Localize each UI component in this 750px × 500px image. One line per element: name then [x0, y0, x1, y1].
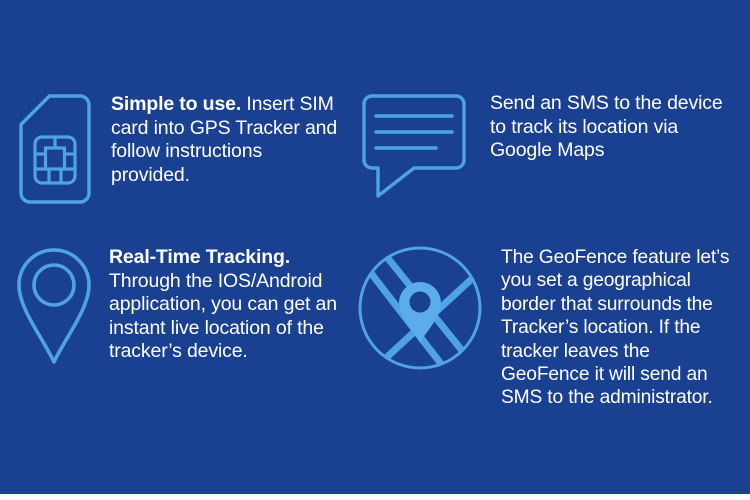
feature-heading: Real-Time Tracking. [109, 246, 290, 268]
map-circle-pin-icon [356, 244, 484, 372]
feature-paragraph: Simple to use. Insert SIM card into GPS … [111, 93, 346, 187]
speech-bubble-icon [360, 92, 468, 202]
feature-body: The GeoFence feature let’s you set a geo… [501, 247, 729, 408]
feature-body: Through the IOS/Android application, you… [109, 270, 337, 363]
feature-paragraph: Real-Time Tracking. Through the IOS/Andr… [109, 246, 344, 364]
feature-body: Send an SMS to the device to track its l… [490, 92, 723, 161]
feature-text: Send an SMS to the device to track its l… [468, 92, 730, 163]
feature-heading: Simple to use. [111, 93, 241, 115]
infographic-canvas: Simple to use. Insert SIM card into GPS … [0, 0, 750, 494]
bottom-white-strip [0, 494, 750, 500]
feature-simple-to-use: Simple to use. Insert SIM card into GPS … [16, 92, 346, 210]
feature-paragraph: The GeoFence feature let’s you set a geo… [501, 246, 736, 410]
feature-geofence: The GeoFence feature let’s you set a geo… [356, 244, 736, 410]
map-pin-icon [14, 246, 94, 368]
feature-text: Simple to use. Insert SIM card into GPS … [94, 92, 346, 187]
feature-send-sms: Send an SMS to the device to track its l… [360, 92, 730, 202]
feature-real-time-tracking: Real-Time Tracking. Through the IOS/Andr… [14, 246, 344, 368]
feature-text: Real-Time Tracking. Through the IOS/Andr… [94, 246, 344, 364]
sim-card-icon [16, 92, 94, 210]
feature-paragraph: Send an SMS to the device to track its l… [490, 92, 730, 163]
feature-text: The GeoFence feature let’s you set a geo… [484, 244, 736, 410]
